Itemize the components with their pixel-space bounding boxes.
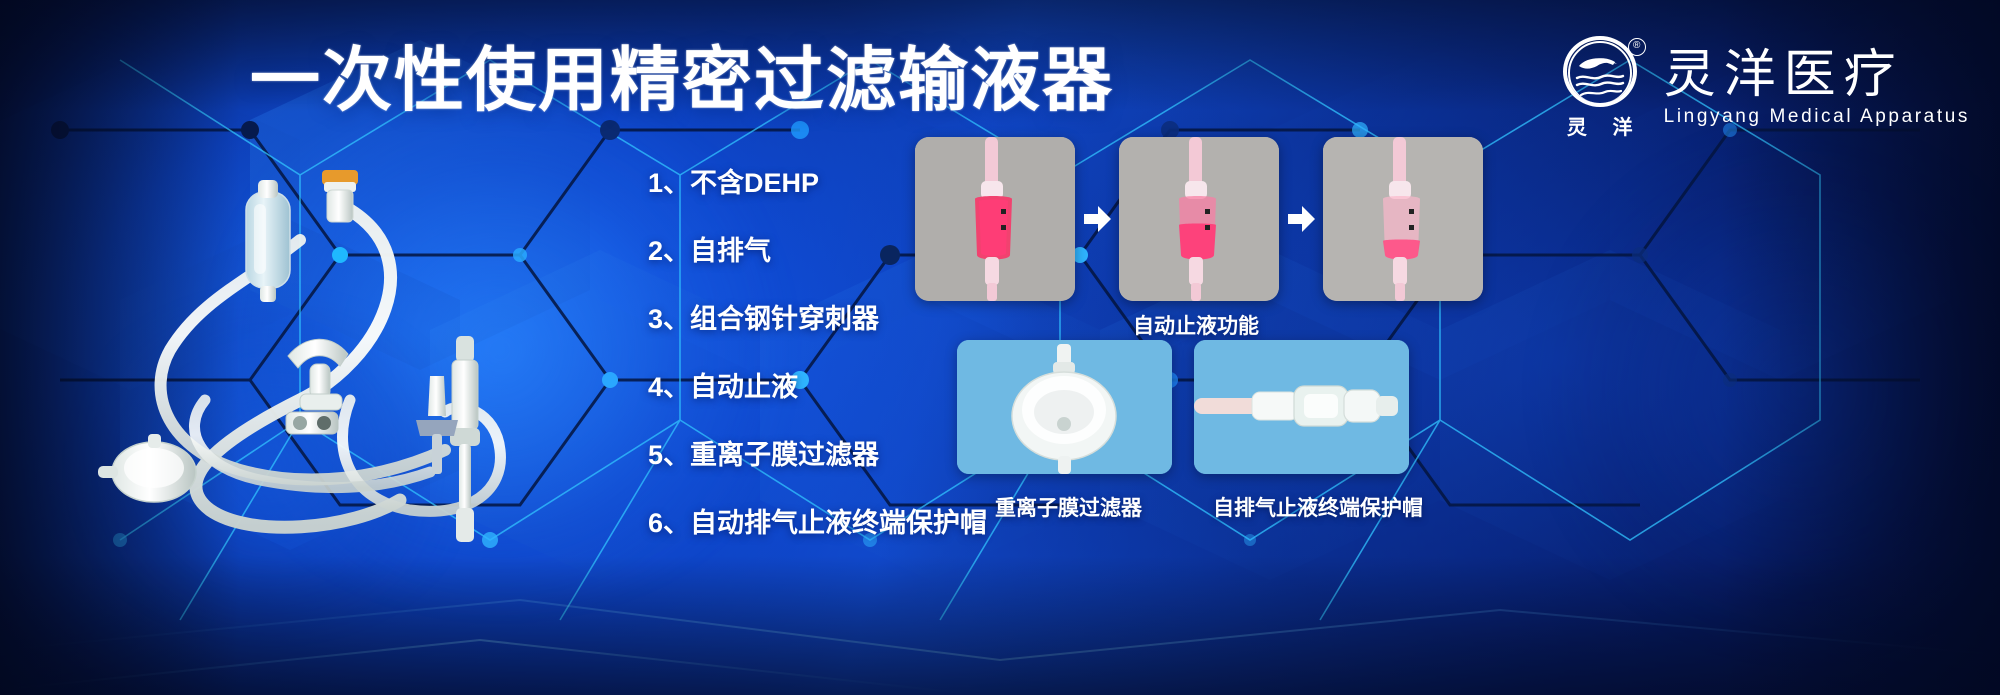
company-name-cn: 灵洋医疗 — [1664, 48, 1970, 103]
feature-item-3: 3、组合钢针穿刺器 — [648, 306, 978, 333]
product-photo — [50, 150, 650, 550]
detail-card-row — [957, 340, 1409, 474]
logo-mark-label: 灵 洋 — [1557, 111, 1643, 140]
demo-frame-2 — [1119, 137, 1279, 301]
brand-logo: ® 灵 洋 灵洋医疗 Lingyang Medical Apparatus — [1558, 36, 1970, 140]
brand-text: 灵洋医疗 Lingyang Medical Apparatus — [1664, 48, 1970, 129]
auto-stop-demo-row — [915, 137, 1483, 301]
detail-card-caption-cap: 自排气止液终端保护帽 — [1213, 492, 1423, 522]
demo-frame-3 — [1323, 137, 1483, 301]
demo-frame-1 — [915, 137, 1075, 301]
arrow-right-icon-1 — [1075, 202, 1119, 236]
feature-item-6: 6、自动排气止液终端保护帽 — [648, 510, 978, 537]
feature-item-4: 4、自动止液 — [648, 374, 978, 401]
logo-emblem-icon — [1563, 36, 1637, 107]
demo-sequence-caption: 自动止液功能 — [1133, 310, 1259, 340]
glow-right — [1540, 130, 2000, 650]
detail-card-cap — [1194, 340, 1409, 474]
page-title: 一次性使用精密过滤输液器 — [250, 45, 1114, 115]
logo-mark: ® 灵 洋 — [1558, 36, 1642, 140]
arrow-right-icon-2 — [1279, 202, 1323, 236]
registered-trademark-icon: ® — [1628, 38, 1646, 56]
feature-item-5: 5、重离子膜过滤器 — [648, 442, 978, 469]
company-name-en: Lingyang Medical Apparatus — [1664, 106, 1970, 128]
detail-card-filter — [957, 340, 1172, 474]
banner-root: 一次性使用精密过滤输液器 ® 灵 洋 灵洋医疗 Lingyang Medical… — [0, 0, 2000, 695]
detail-card-caption-filter: 重离子膜过滤器 — [995, 492, 1142, 522]
